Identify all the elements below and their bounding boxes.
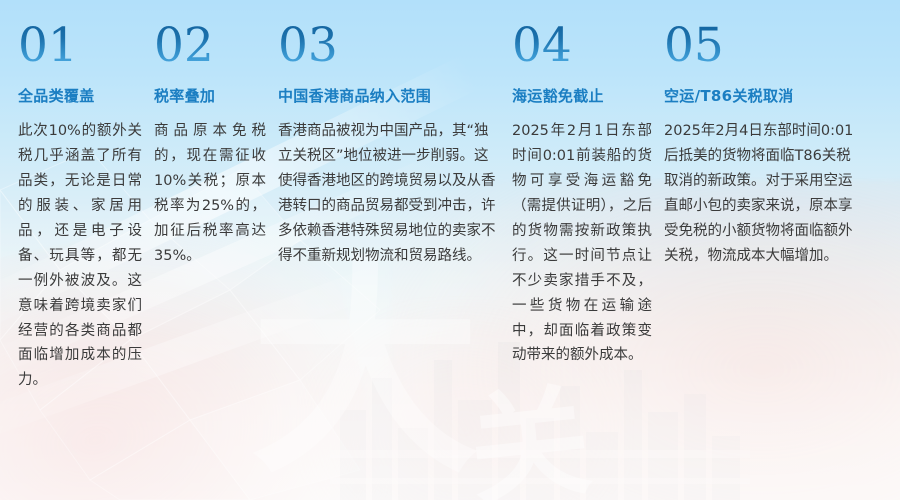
column-number: 02 <box>154 22 266 69</box>
column-number: 03 <box>278 22 496 69</box>
column-heading: 海运豁免截止 <box>512 87 652 105</box>
column-heading: 税率叠加 <box>154 87 266 105</box>
column-03: 03 中国香港商品纳入范围 香港商品被视为中国产品，其“独立关税区”地位被进一步… <box>278 0 496 269</box>
infographic-canvas: 大 关 01 全品类覆盖 此次10%的额外关税几乎涵盖了所有品类，无论是日常的服… <box>0 0 900 500</box>
column-heading: 全品类覆盖 <box>18 87 142 105</box>
column-number: 01 <box>18 22 142 69</box>
column-body: 香港商品被视为中国产品，其“独立关税区”地位被进一步削弱。这使得香港地区的跨境贸… <box>278 119 496 269</box>
column-02: 02 税率叠加 商品原本免税的，现在需征收10%关税；原本税率为25%的，加征后… <box>154 0 266 269</box>
column-05: 05 空运/T86关税取消 2025年2月4日东部时间0:01后抵美的货物将面临… <box>664 0 856 269</box>
column-body: 商品原本免税的，现在需征收10%关税；原本税率为25%的，加征后税率高达35%。 <box>154 119 266 269</box>
column-04: 04 海运豁免截止 2025年2月1日东部时间0:01前装船的货物可享受海运豁免… <box>512 0 652 368</box>
columns-container: 01 全品类覆盖 此次10%的额外关税几乎涵盖了所有品类，无论是日常的服装、家居… <box>0 0 900 500</box>
column-01: 01 全品类覆盖 此次10%的额外关税几乎涵盖了所有品类，无论是日常的服装、家居… <box>18 0 142 393</box>
column-heading: 空运/T86关税取消 <box>664 87 856 105</box>
column-heading: 中国香港商品纳入范围 <box>278 87 496 105</box>
column-body: 2025年2月1日东部时间0:01前装船的货物可享受海运豁免（需提供证明），之后… <box>512 119 652 368</box>
column-number: 04 <box>512 22 652 69</box>
column-body: 此次10%的额外关税几乎涵盖了所有品类，无论是日常的服装、家居用品，还是电子设备… <box>18 119 142 393</box>
column-number: 05 <box>664 22 856 69</box>
column-body: 2025年2月4日东部时间0:01后抵美的货物将面临T86关税取消的新政策。对于… <box>664 119 856 269</box>
